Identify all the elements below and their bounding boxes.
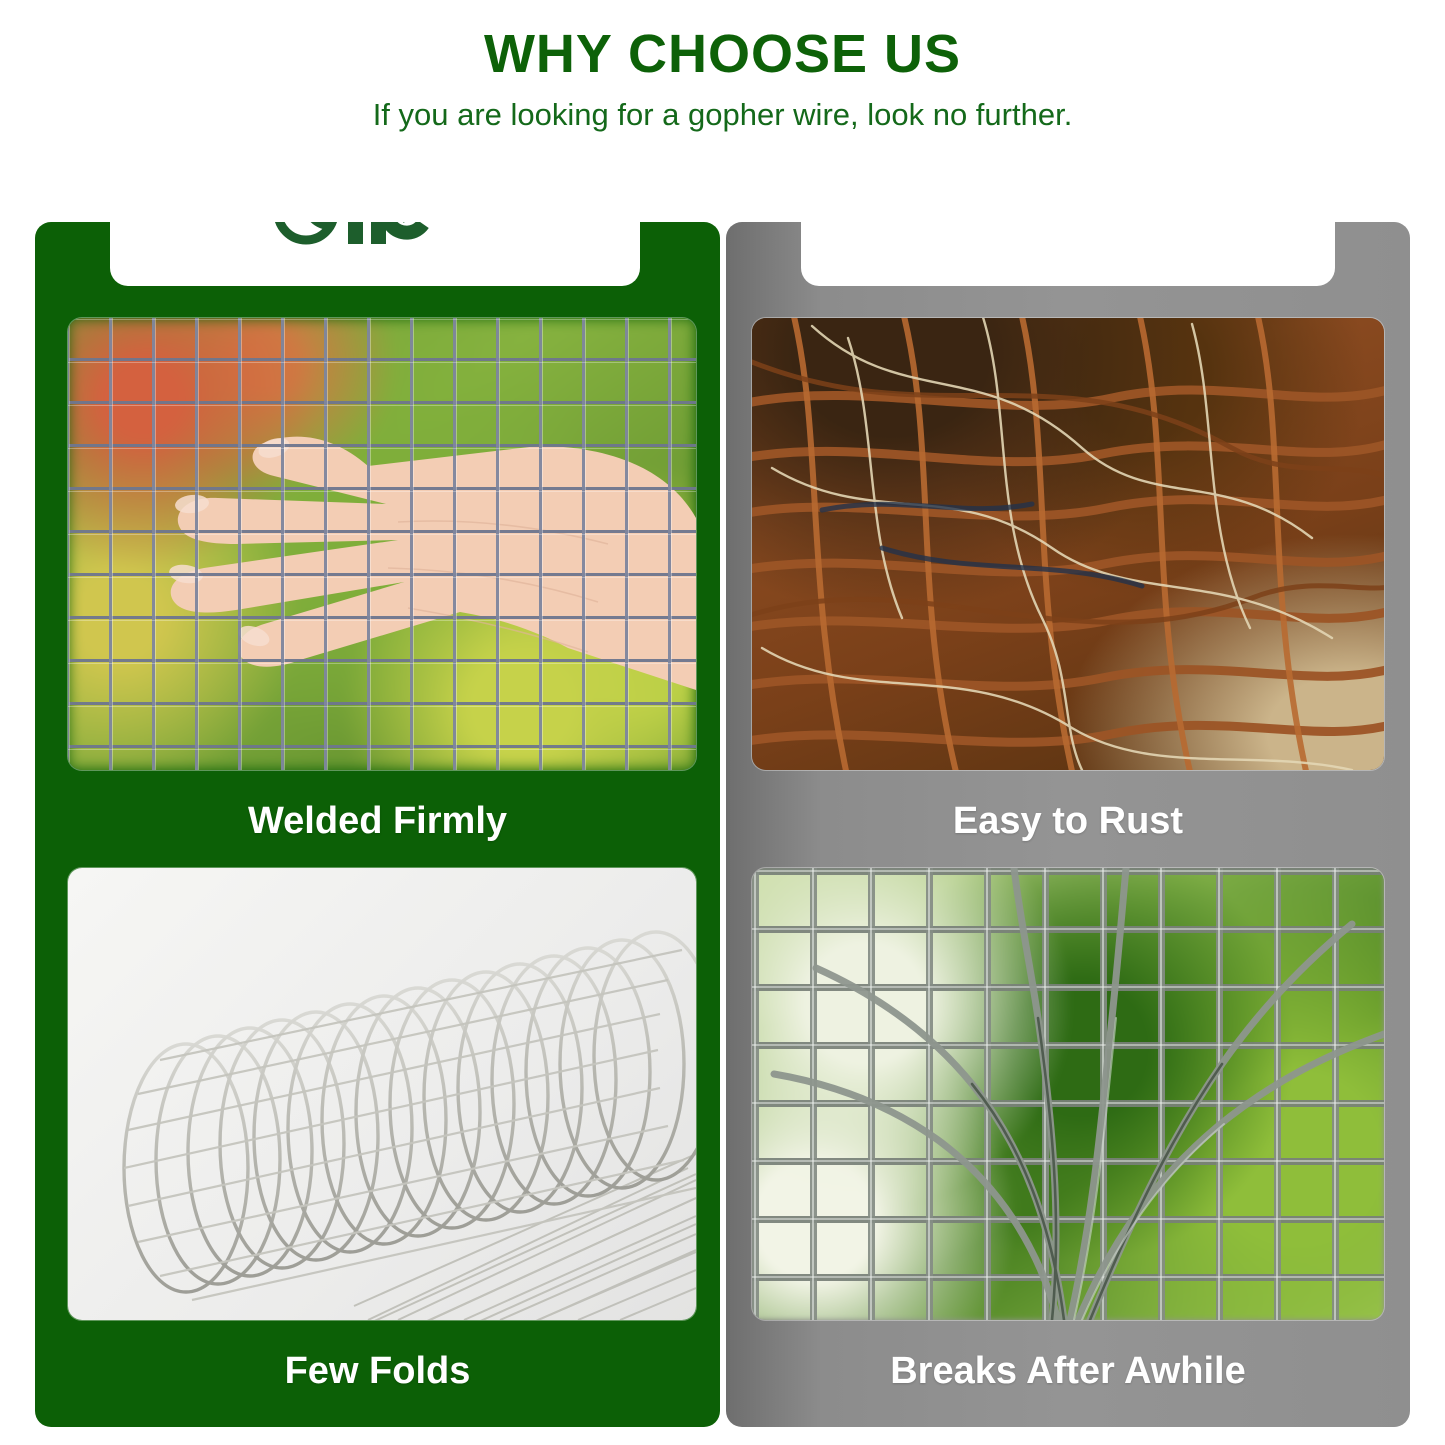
brand-panel: R — [35, 222, 720, 1427]
hand-on-welded-wire-mesh-image — [68, 318, 696, 770]
page-subtitle: If you are looking for a gopher wire, lo… — [0, 97, 1445, 133]
page-title: WHY CHOOSE US — [0, 26, 1445, 83]
broken-wire-mesh-image — [752, 868, 1384, 1320]
others-tab-label: Others — [801, 222, 1335, 230]
others-caption-breaks: Breaks After Awhile — [726, 1350, 1410, 1393]
brand-caption-welded: Welded Firmly — [35, 800, 720, 843]
others-tab: Others — [801, 222, 1335, 286]
wire-roll-illustration — [68, 868, 696, 1320]
welded-mesh-overlay — [68, 318, 696, 770]
olle-logo: R — [110, 222, 640, 250]
rusty-tangled-wire-image — [752, 318, 1384, 770]
comparison-section: R — [0, 190, 1445, 1445]
rusty-wire-illustration — [752, 318, 1384, 770]
brand-tab: R — [110, 222, 640, 286]
stainless-wire-mesh-roll-image — [68, 868, 696, 1320]
mesh-break-lines — [752, 868, 1384, 1320]
others-caption-rust: Easy to Rust — [726, 800, 1410, 843]
page-header: WHY CHOOSE US If you are looking for a g… — [0, 0, 1445, 190]
brand-caption-folds: Few Folds — [35, 1350, 720, 1393]
others-panel: Others — [726, 222, 1410, 1427]
